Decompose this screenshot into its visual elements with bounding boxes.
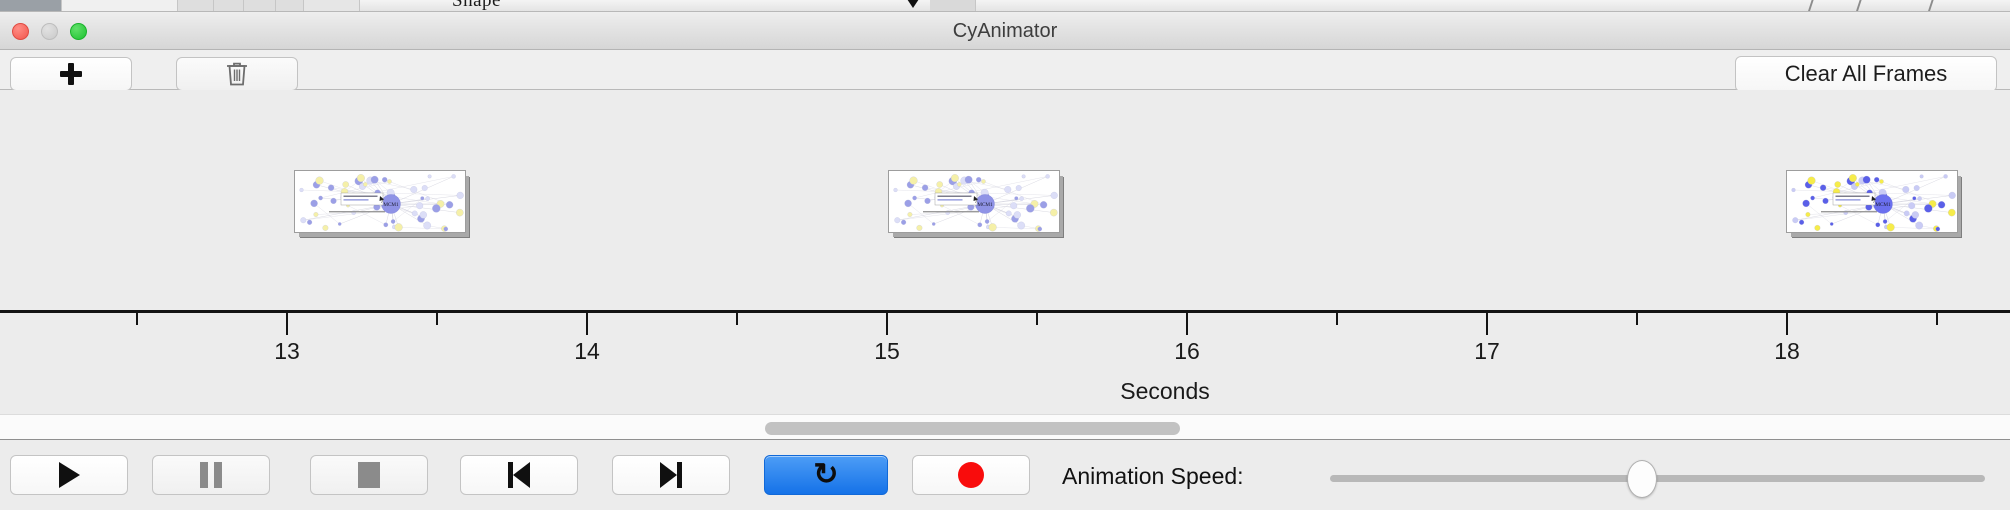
background-cursor-icon [905, 0, 921, 8]
window-title: CyAnimator [0, 12, 2010, 50]
next-frame-button[interactable] [612, 455, 730, 495]
svg-text:MCM1: MCM1 [1875, 202, 1891, 208]
toolbar: Clear All Frames [0, 50, 2010, 90]
axis-title-label: Seconds [1120, 378, 1210, 404]
delete-frame-button[interactable] [176, 57, 298, 91]
cyanimator-window: Shape CyAnimator Clear All Frames [0, 0, 2010, 510]
axis-tick-label: 16 [1174, 338, 1200, 365]
timeline-scrollbar[interactable] [0, 414, 2010, 440]
axis-tick-label: 13 [274, 338, 300, 365]
axis-tick-minor [1636, 313, 1638, 325]
axis-tick-major [286, 313, 288, 335]
loop-button[interactable]: ↻ [764, 455, 888, 495]
slider-track [1330, 475, 1985, 482]
record-icon [958, 462, 984, 488]
axis-title: Seconds [0, 378, 2010, 405]
background-app-strip: Shape [0, 0, 2010, 12]
record-button[interactable] [912, 455, 1030, 495]
axis-tick-major [586, 313, 588, 335]
animation-speed-label: Animation Speed: [1062, 463, 1244, 490]
clear-all-frames-label: Clear All Frames [1785, 61, 1948, 87]
keyframe-thumbnail[interactable]: MCM1 [294, 170, 466, 233]
play-icon [59, 462, 80, 488]
title-bar: CyAnimator [0, 12, 2010, 50]
stop-button[interactable] [310, 455, 428, 495]
axis-tick-minor [1936, 313, 1938, 325]
clear-all-frames-button[interactable]: Clear All Frames [1735, 56, 1997, 92]
animation-speed-slider[interactable] [1330, 473, 1985, 483]
background-app-label: Shape [452, 0, 501, 12]
axis-tick-minor [136, 313, 138, 325]
timeline-axis [0, 310, 2010, 313]
svg-text:MCM1: MCM1 [383, 202, 399, 208]
axis-tick-major [886, 313, 888, 335]
axis-tick-minor [1336, 313, 1338, 325]
keyframe-thumbnail[interactable]: MCM1 [888, 170, 1060, 233]
axis-tick-minor [1036, 313, 1038, 325]
plus-icon [60, 63, 82, 85]
add-frame-button[interactable] [10, 57, 132, 91]
axis-tick-label: 18 [1774, 338, 1800, 365]
pause-icon [200, 462, 222, 488]
keyframe-thumbnail[interactable]: MCM1 [1786, 170, 1958, 233]
skip-forward-icon [658, 462, 684, 488]
axis-tick-minor [736, 313, 738, 325]
play-button[interactable] [10, 455, 128, 495]
transport-bar: ↻ Animation Speed: [0, 441, 2010, 510]
axis-tick-minor [436, 313, 438, 325]
axis-tick-major [1186, 313, 1188, 335]
skip-back-icon [506, 462, 532, 488]
axis-tick-label: 14 [574, 338, 600, 365]
svg-text:MCM1: MCM1 [977, 202, 993, 208]
axis-tick-major [1786, 313, 1788, 335]
trash-icon [225, 61, 249, 87]
slider-thumb[interactable] [1627, 460, 1657, 498]
scrollbar-thumb[interactable] [765, 422, 1180, 435]
pause-button[interactable] [152, 455, 270, 495]
axis-tick-label: 17 [1474, 338, 1500, 365]
stop-icon [358, 462, 380, 488]
previous-frame-button[interactable] [460, 455, 578, 495]
axis-tick-label: 15 [874, 338, 900, 365]
timeline-panel[interactable]: MCM1 MCM1 MCM1 12131415161718 Seconds [0, 90, 2010, 414]
axis-tick-major [1486, 313, 1488, 335]
loop-icon: ↻ [813, 460, 838, 490]
